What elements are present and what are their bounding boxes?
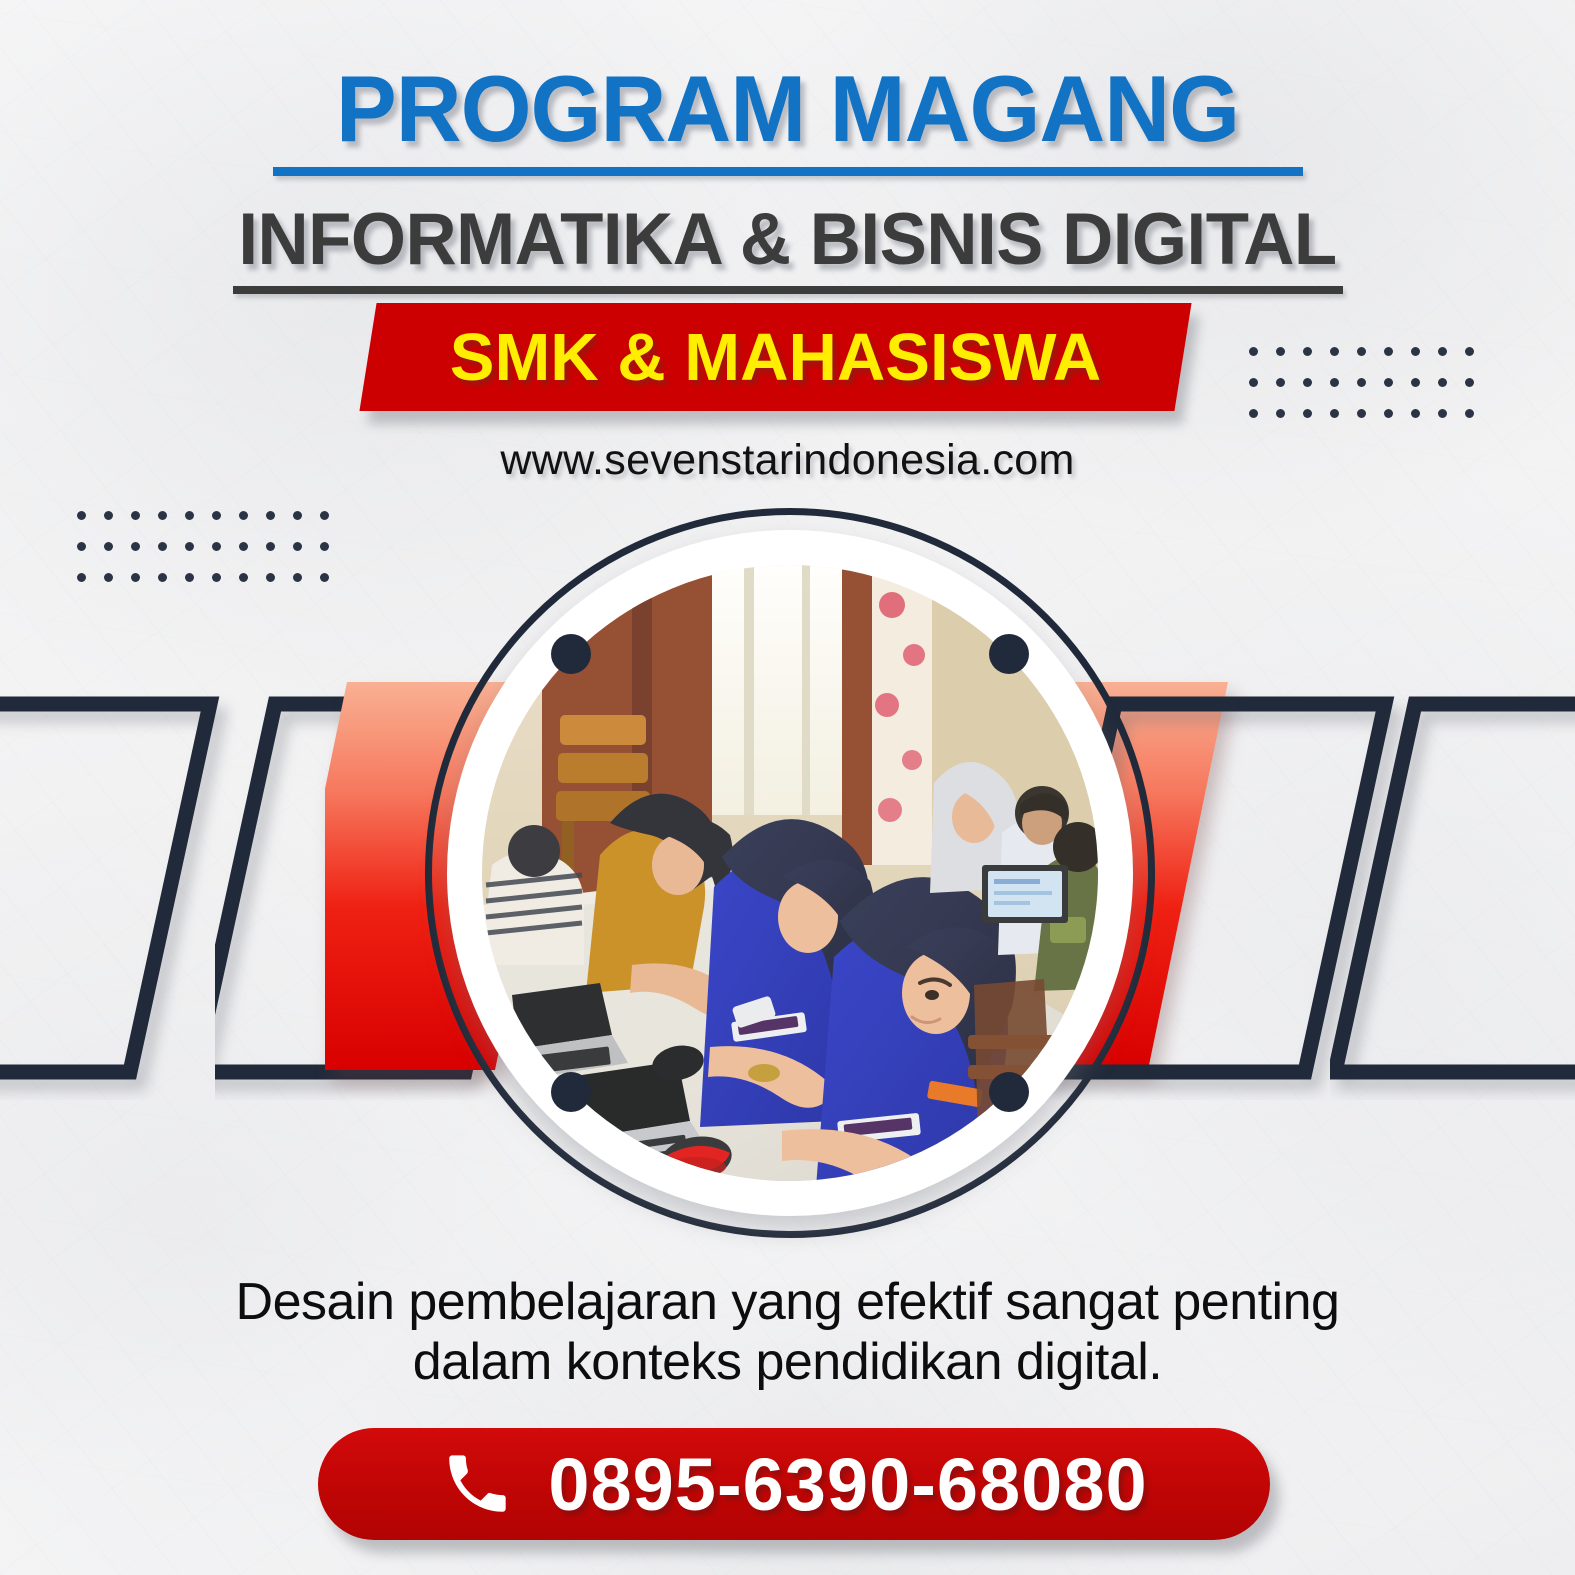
photo-circle <box>425 508 1155 1238</box>
ring-dot-top-right <box>989 634 1029 674</box>
audience-banner-label: SMK & MAHASISWA <box>368 303 1183 411</box>
promo-poster: PROGRAM MAGANG INFORMATIKA & BISNIS DIGI… <box>0 0 1575 1575</box>
ring-dot-top-left <box>551 634 591 674</box>
header-title-block: PROGRAM MAGANG INFORMATIKA & BISNIS DIGI… <box>0 62 1575 294</box>
contact-phone-button[interactable]: 0895-6390-68080 <box>318 1428 1270 1540</box>
subtitle-underline-dark <box>233 286 1343 294</box>
tagline: Desain pembelajaran yang efektif sangat … <box>155 1272 1420 1393</box>
ring-dot-bottom-right <box>989 1072 1029 1112</box>
decor-outline-left-outer <box>0 680 300 1100</box>
title-underline-blue <box>273 167 1303 176</box>
decor-outline-right-outer <box>1330 680 1575 1100</box>
ring-dot-bottom-left <box>551 1072 591 1112</box>
phone-handset-icon <box>440 1447 514 1521</box>
website-url[interactable]: www.sevenstarindonesia.com <box>0 436 1575 485</box>
tagline-line-1: Desain pembelajaran yang efektif sangat … <box>155 1272 1420 1332</box>
page-title: PROGRAM MAGANG <box>24 62 1552 156</box>
tagline-line-2: dalam konteks pendidikan digital. <box>155 1332 1420 1392</box>
decor-dot-grid-left <box>68 500 338 593</box>
contact-phone-number: 0895-6390-68080 <box>548 1442 1147 1527</box>
decor-dot-grid-right <box>1240 336 1483 429</box>
page-subtitle: INFORMATIKA & BISNIS DIGITAL <box>24 203 1552 276</box>
